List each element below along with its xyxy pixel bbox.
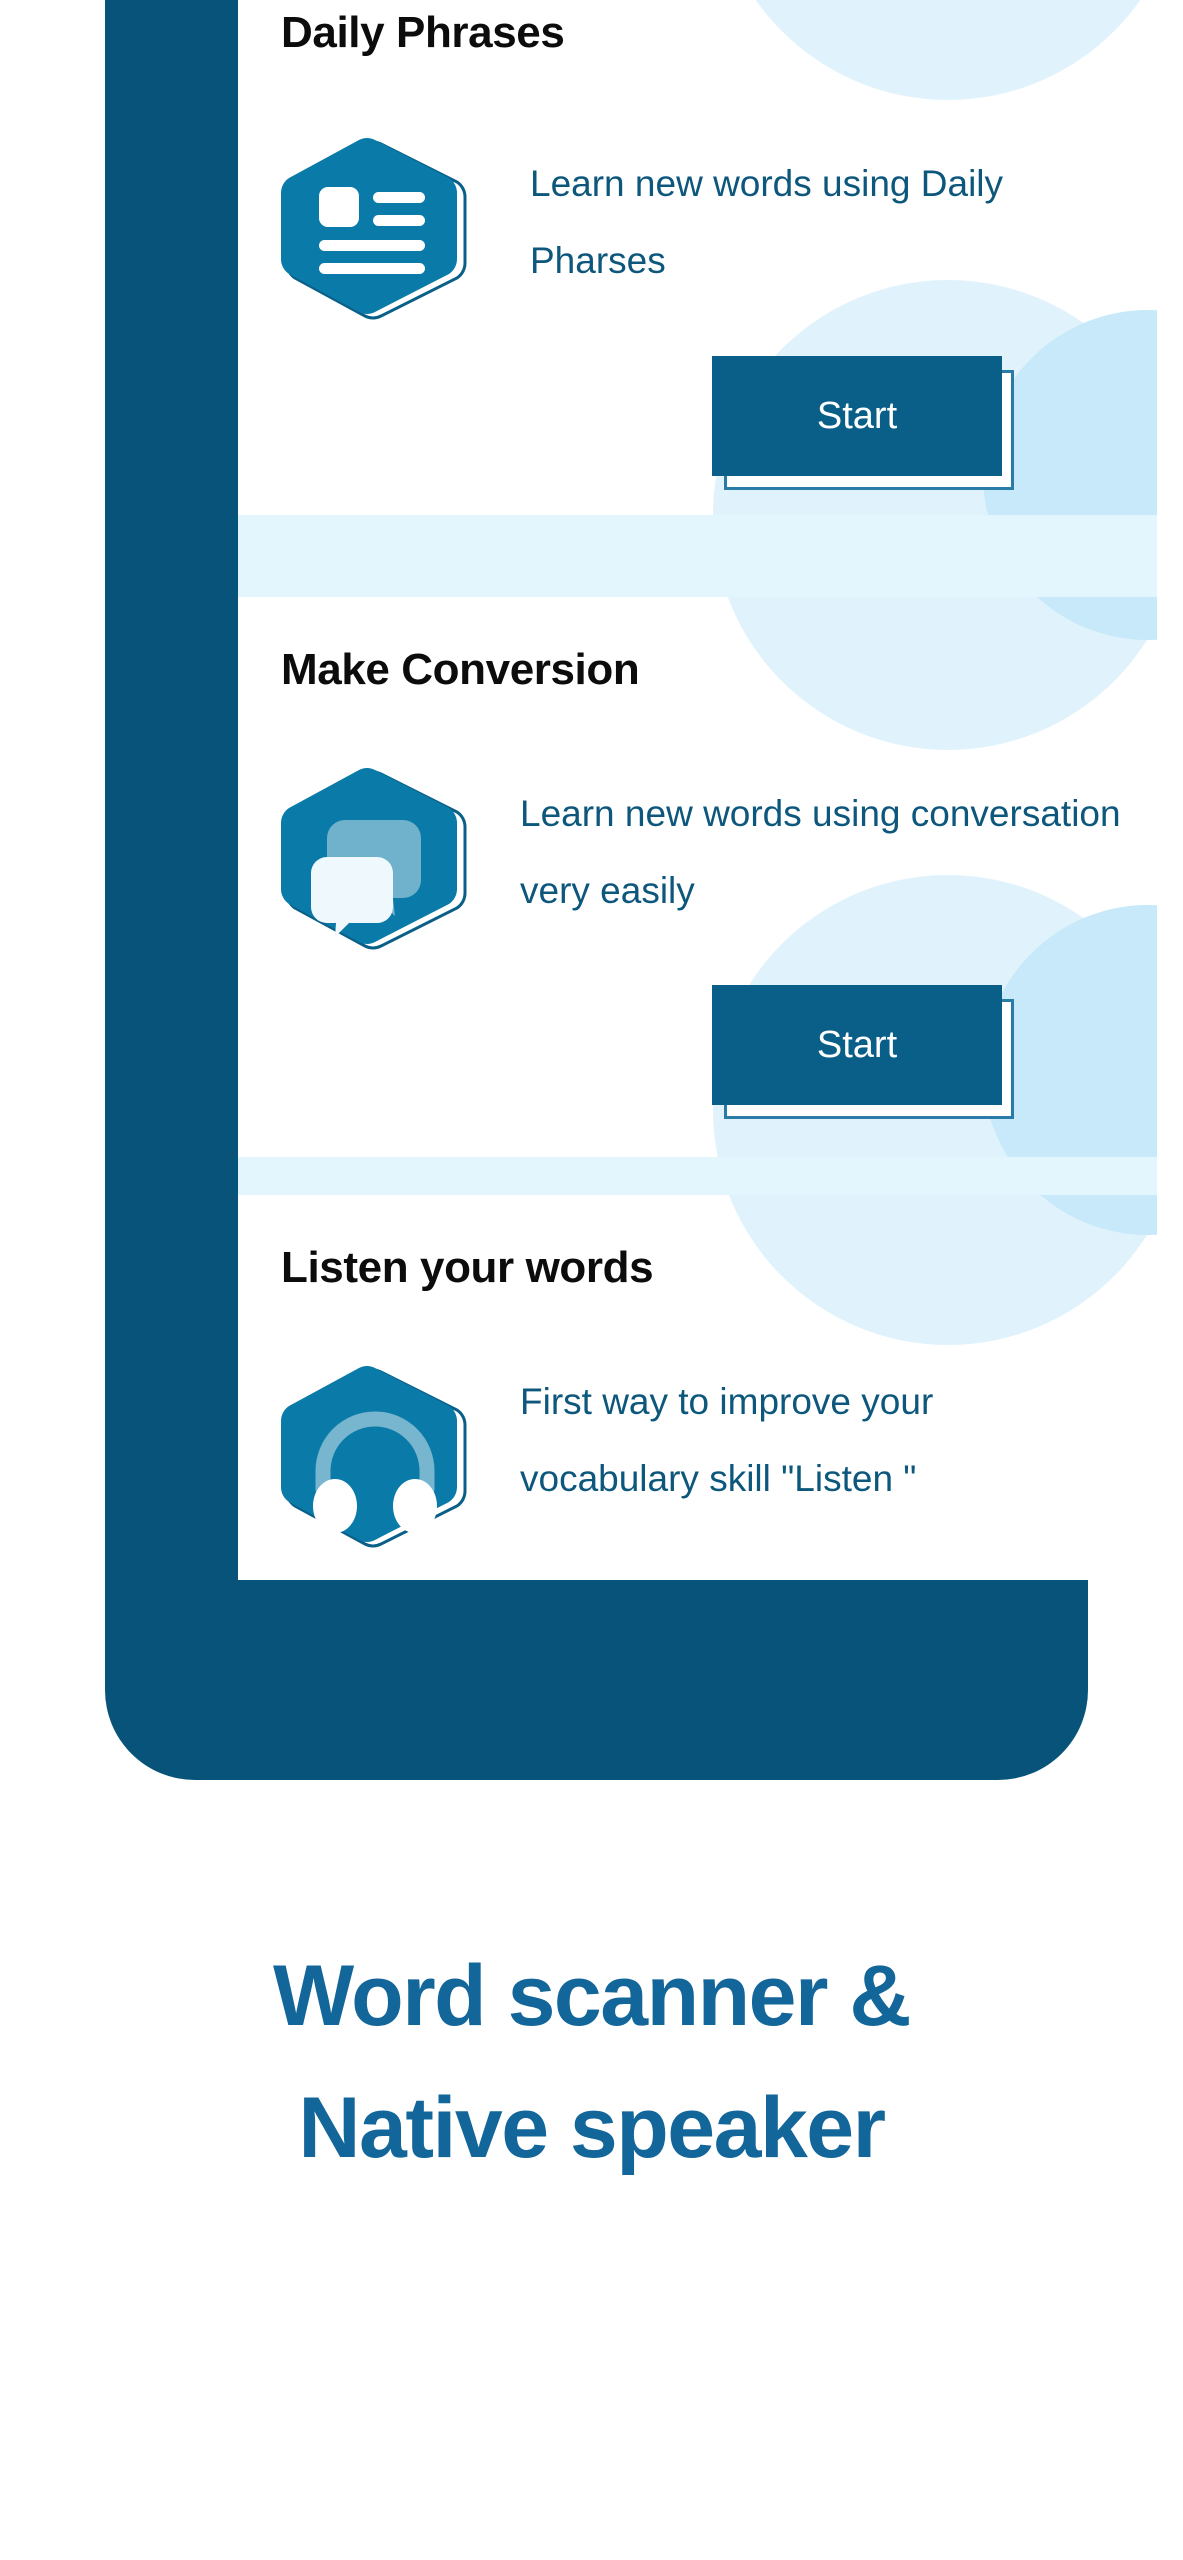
card-daily-phrases: Daily Phrases Learn new words using Dail… [238, 0, 1157, 515]
card-title-make-conversion: Make Conversion [281, 645, 639, 695]
start-button-daily-phrases[interactable]: Start [712, 356, 1002, 476]
card-description-daily-phrases: Learn new words using Daily Pharses [530, 145, 1130, 299]
start-button-wrapper-make-conversion: Start [712, 985, 1002, 1105]
card-description-make-conversion: Learn new words using conversation very … [520, 775, 1140, 929]
card-title-daily-phrases: Daily Phrases [281, 8, 564, 58]
card-listen-your-words: Listen your words First way to improve y… [238, 1195, 1157, 1580]
chat-bubbles-icon [281, 765, 469, 953]
page-headline: Word scanner & Native speaker [0, 1930, 1183, 2194]
card-description-listen-your-words: First way to improve your vocabulary ski… [520, 1363, 1120, 1517]
card-divider-2 [238, 1157, 1157, 1195]
start-button-make-conversion[interactable]: Start [712, 985, 1002, 1105]
card-divider-1 [238, 515, 1157, 597]
card-make-conversion: Make Conversion Learn new words using co… [238, 597, 1157, 1157]
headline-line-2: Native speaker [0, 2062, 1183, 2194]
headline-line-1: Word scanner & [0, 1930, 1183, 2062]
news-card-icon [281, 135, 469, 323]
phone-frame: Daily Phrases Learn new words using Dail… [105, 0, 1088, 1780]
phone-screen: Daily Phrases Learn new words using Dail… [238, 0, 1157, 1580]
headphones-icon [281, 1363, 469, 1551]
card-title-listen-your-words: Listen your words [281, 1243, 653, 1293]
start-button-wrapper-daily-phrases: Start [712, 356, 1002, 476]
